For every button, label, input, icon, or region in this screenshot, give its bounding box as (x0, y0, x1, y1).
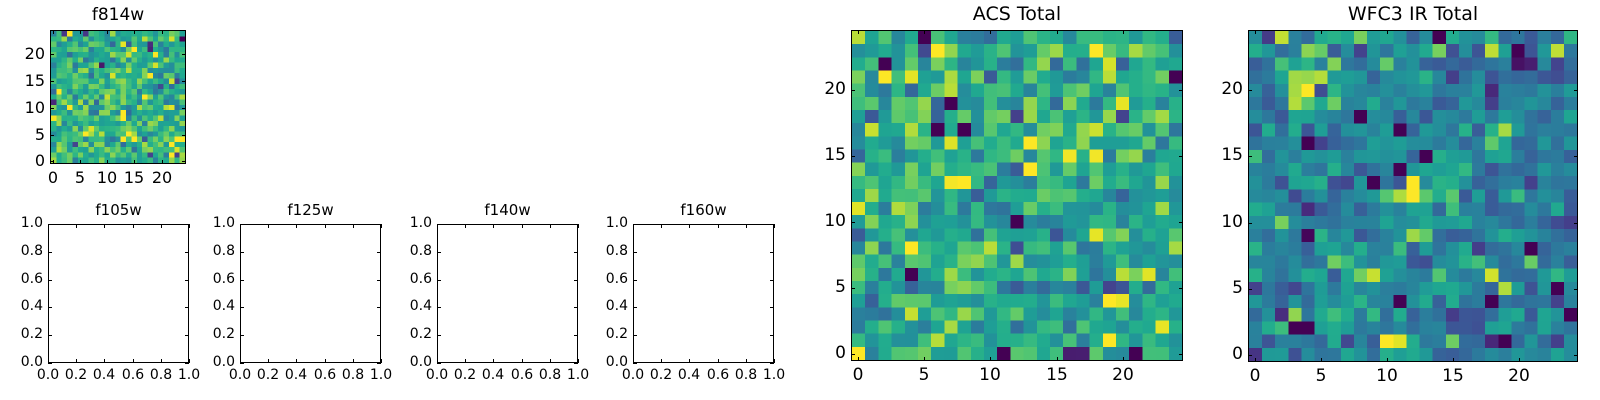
xticklabel-wfc3-ir-total: 15 (1418, 366, 1488, 386)
xtick-wfc3-ir-total (1519, 30, 1520, 34)
xtick-wfc3-ir-total (1387, 30, 1388, 34)
xtick-wfc3-ir-total (1255, 358, 1256, 362)
ytick-wfc3-ir-total (1574, 156, 1578, 157)
ytick-wfc3-ir-total (1248, 156, 1252, 157)
xticklabel-wfc3-ir-total: 10 (1352, 366, 1422, 386)
yticklabel-wfc3-ir-total: 20 (1183, 79, 1243, 99)
yticklabel-wfc3-ir-total: 10 (1183, 212, 1243, 232)
panel-title-wfc3-ir-total: WFC3 IR Total (1248, 4, 1578, 25)
ytick-wfc3-ir-total (1574, 355, 1578, 356)
xtick-wfc3-ir-total (1519, 358, 1520, 362)
xtick-wfc3-ir-total (1255, 30, 1256, 34)
ytick-wfc3-ir-total (1248, 90, 1252, 91)
ytick-wfc3-ir-total (1248, 355, 1252, 356)
yticklabel-wfc3-ir-total: 5 (1183, 278, 1243, 298)
xtick-wfc3-ir-total (1453, 30, 1454, 34)
xticklabel-wfc3-ir-total: 0 (1220, 366, 1290, 386)
xticklabel-wfc3-ir-total: 5 (1286, 366, 1356, 386)
ytick-wfc3-ir-total (1248, 223, 1252, 224)
yticklabel-wfc3-ir-total: 15 (1183, 145, 1243, 165)
panel-wfc3-ir-total: WFC3 IR Total0510152005101520 (0, 0, 1600, 400)
ytick-wfc3-ir-total (1574, 90, 1578, 91)
heatmap-image-wfc3-ir-total (1249, 31, 1577, 361)
xtick-wfc3-ir-total (1387, 358, 1388, 362)
xtick-wfc3-ir-total (1321, 358, 1322, 362)
axes-wfc3-ir-total (1248, 30, 1578, 362)
xticklabel-wfc3-ir-total: 20 (1484, 366, 1554, 386)
xtick-wfc3-ir-total (1321, 30, 1322, 34)
xtick-wfc3-ir-total (1453, 358, 1454, 362)
ytick-wfc3-ir-total (1574, 223, 1578, 224)
matplotlib-figure: f814w0510152005101520f105w0.00.20.40.60.… (0, 0, 1600, 400)
ytick-wfc3-ir-total (1248, 289, 1252, 290)
ytick-wfc3-ir-total (1574, 289, 1578, 290)
yticklabel-wfc3-ir-total: 0 (1183, 344, 1243, 364)
